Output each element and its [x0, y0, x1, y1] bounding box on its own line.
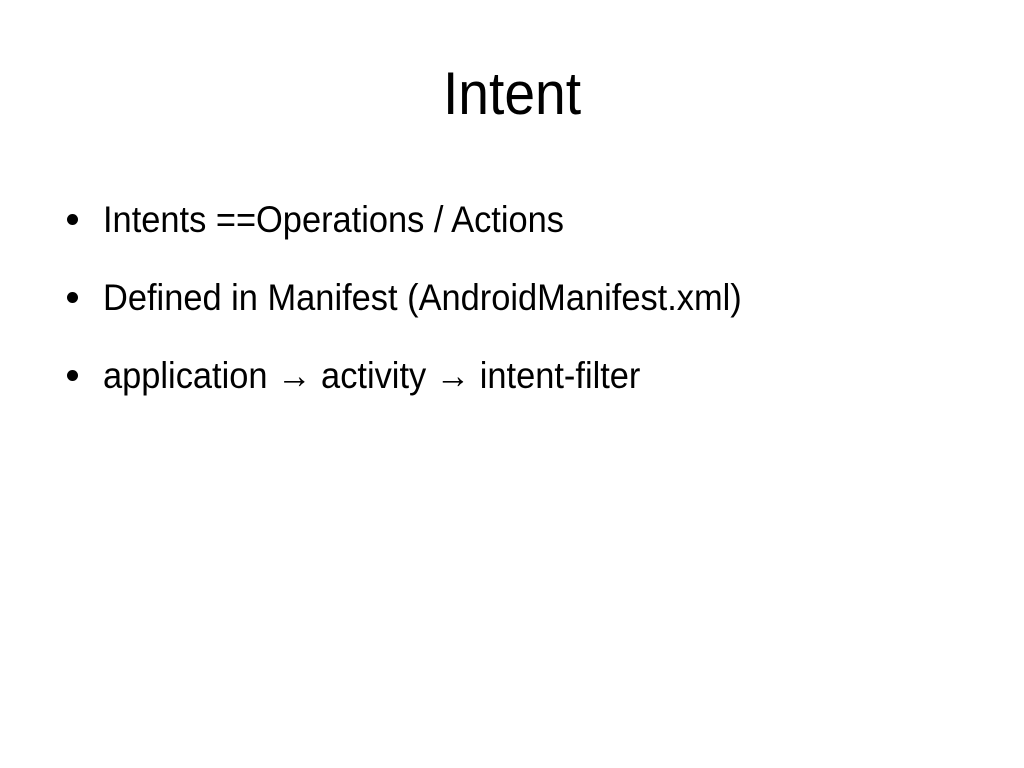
page-title: Intent [41, 62, 983, 125]
list-item-label: application → activity → intent-filter [103, 352, 640, 400]
bullet-dot-icon [67, 292, 78, 303]
bullet-dot-icon [67, 370, 78, 381]
list-item-label: Defined in Manifest (AndroidManifest.xml… [103, 274, 742, 322]
list-item: Defined in Manifest (AndroidManifest.xml… [62, 274, 962, 352]
bullet-dot-icon [67, 214, 78, 225]
bullet-list: Intents ==Operations / Actions Defined i… [62, 196, 962, 430]
list-item-label: Intents ==Operations / Actions [103, 196, 564, 244]
presentation-slide: Intent Intents ==Operations / Actions De… [0, 0, 1024, 768]
list-item: Intents ==Operations / Actions [62, 196, 962, 274]
list-item: application → activity → intent-filter [62, 352, 962, 430]
